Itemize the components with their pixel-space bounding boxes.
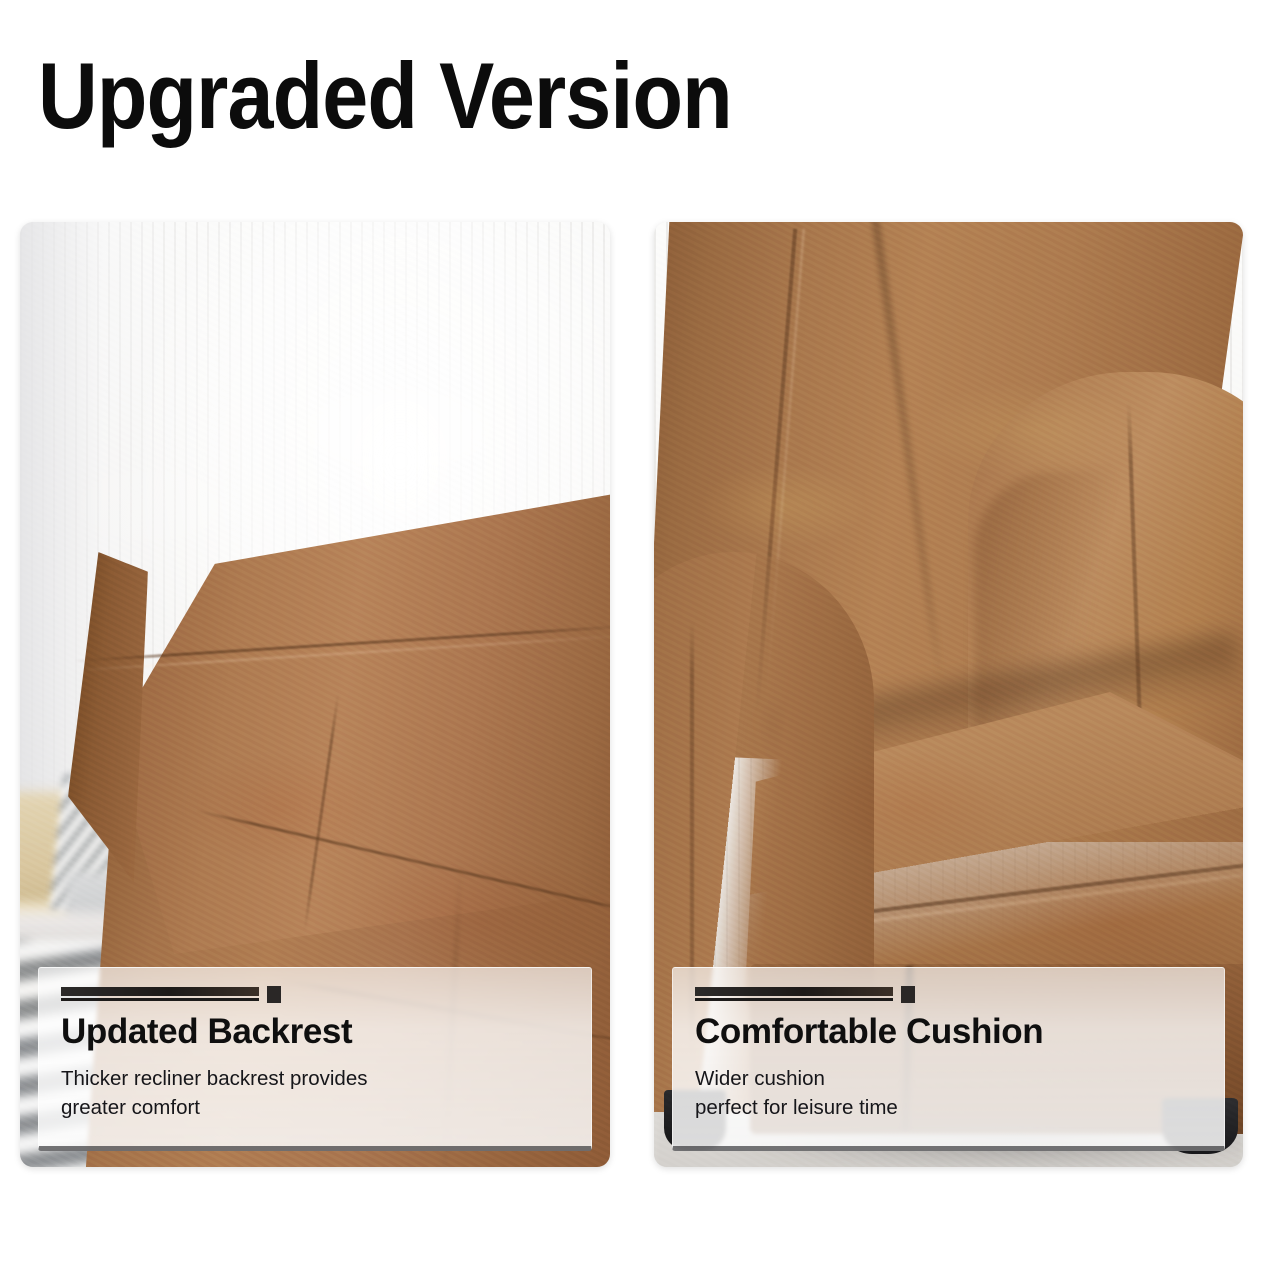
caption-body: Wider cushion perfect for leisure time xyxy=(695,1065,1202,1122)
product-feature-graphic: Upgraded Version xyxy=(0,0,1263,1263)
accent-bar-icon xyxy=(695,986,1202,1003)
caption-title: Comfortable Cushion xyxy=(695,1012,1202,1051)
feature-panel-updated-backrest: Updated Backrest Thicker recliner backre… xyxy=(20,222,610,1167)
caption-comfortable-cushion: Comfortable Cushion Wider cushion perfec… xyxy=(672,967,1225,1151)
caption-updated-backrest: Updated Backrest Thicker recliner backre… xyxy=(38,967,592,1151)
accent-bar-thick xyxy=(695,987,893,996)
accent-bar-icon xyxy=(61,986,569,1003)
accent-bar-block xyxy=(267,986,281,1003)
accent-bar-thin xyxy=(61,998,259,1001)
feature-panel-comfortable-cushion: Comfortable Cushion Wider cushion perfec… xyxy=(654,222,1243,1167)
caption-body: Thicker recliner backrest provides great… xyxy=(61,1065,569,1122)
caption-title: Updated Backrest xyxy=(61,1012,569,1051)
accent-bar-thick xyxy=(61,987,259,996)
accent-bar-block xyxy=(901,986,915,1003)
accent-bar-thin xyxy=(695,998,893,1001)
page-title: Upgraded Version xyxy=(38,48,732,144)
